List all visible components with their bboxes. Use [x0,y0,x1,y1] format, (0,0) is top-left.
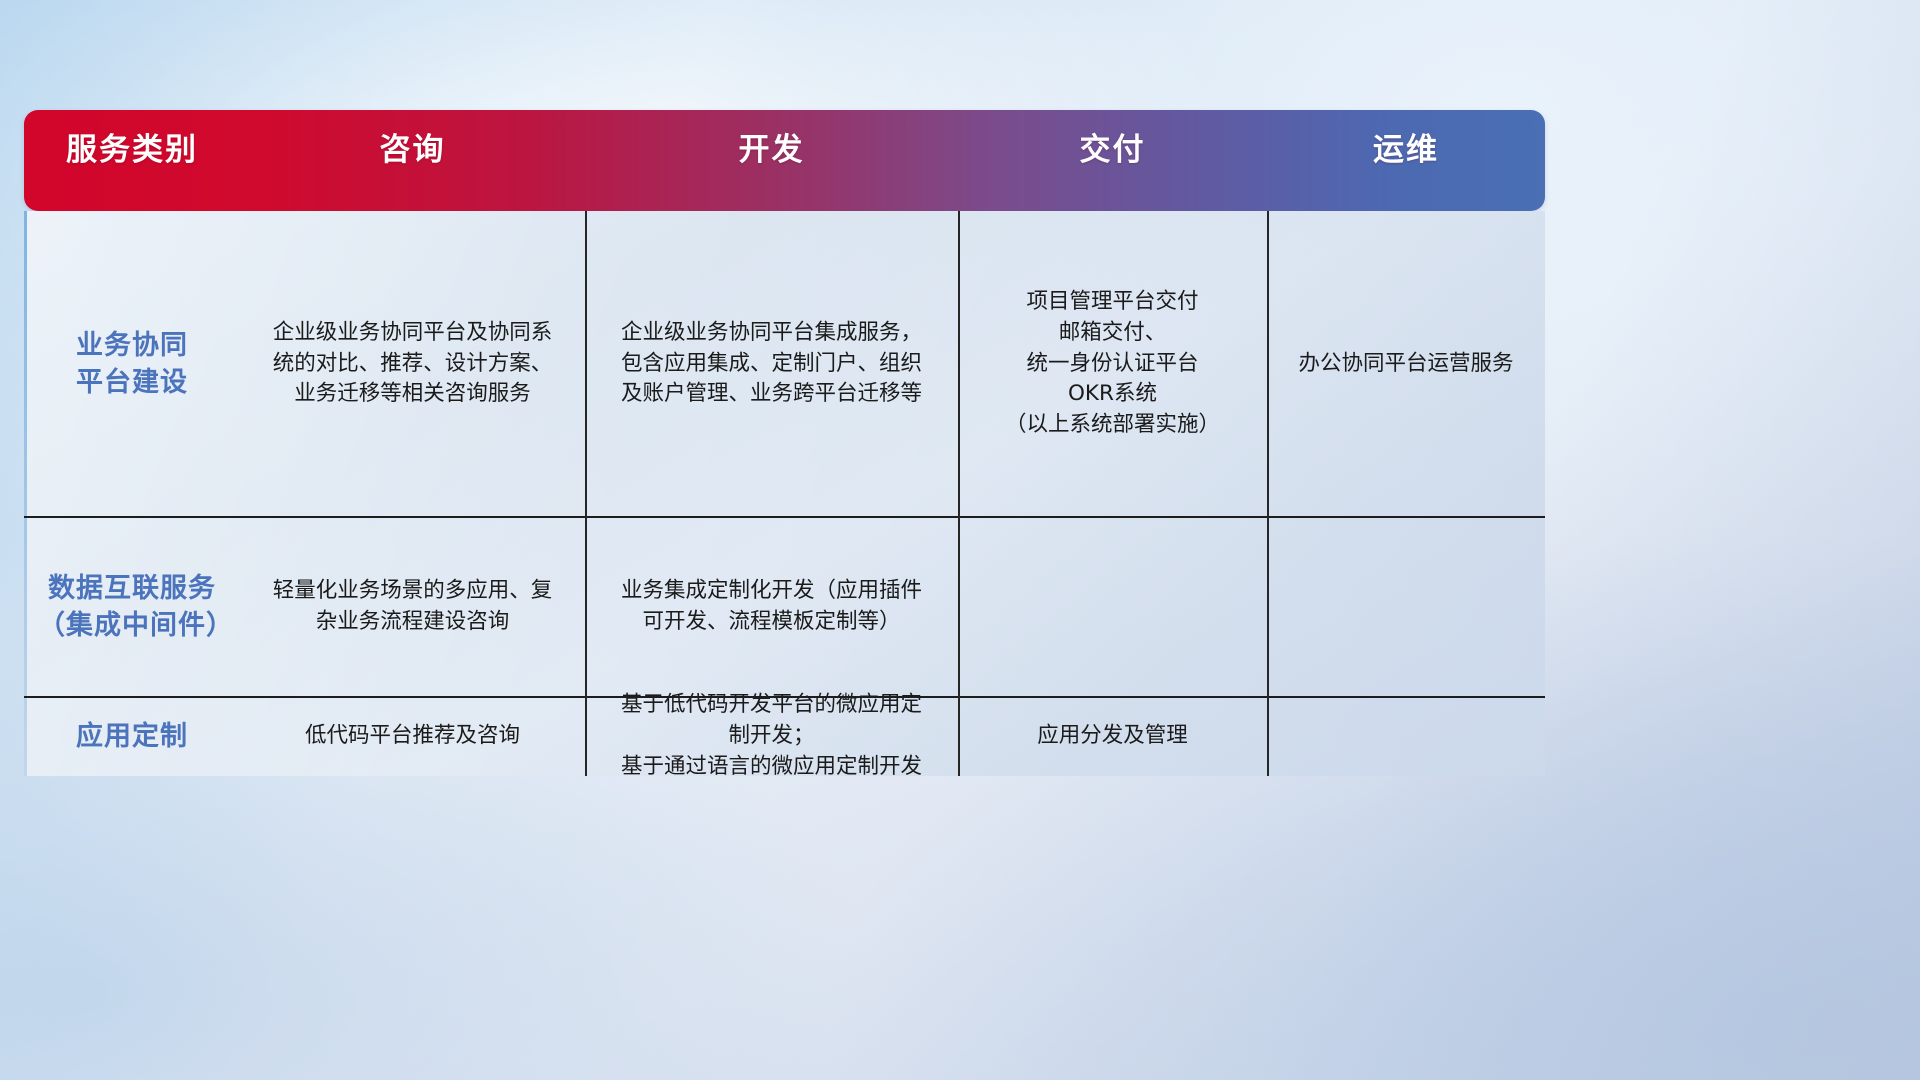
cell-r1-consulting: 企业级业务协同平台及协同系 统的对比、推荐、设计方案、 业务迁移等相关咨询服务 [240,211,585,517]
column-divider-consulting-development [585,211,587,776]
table-body: 业务协同 平台建设 企业级业务协同平台及协同系 统的对比、推荐、设计方案、 业务… [24,211,1545,776]
cell-r2-consulting: 轻量化业务场景的多应用、复 杂业务流程建设咨询 [240,517,585,697]
row-label-app-customization: 应用定制 [24,697,240,776]
cell-r2-delivery [958,517,1267,697]
column-divider-development-delivery [958,211,960,776]
service-matrix-table: 服务类别 咨询 开发 交付 运维 业务协同 平台建设 企业级业务协同平台及协同系… [24,110,1545,776]
row-divider-1 [24,516,1545,518]
cell-r1-development: 企业级业务协同平台集成服务， 包含应用集成、定制门户、组织 及账户管理、业务跨平… [585,211,958,517]
row-divider-2 [24,696,1545,698]
table-row: 业务协同 平台建设 企业级业务协同平台及协同系 统的对比、推荐、设计方案、 业务… [24,211,1545,517]
cell-r2-operations [1267,517,1545,697]
cell-r3-delivery: 应用分发及管理 [958,697,1267,776]
cell-r3-development: 基于低代码开发平台的微应用定 制开发； 基于通过语言的微应用定制开发 [585,697,958,776]
cell-r1-operations: 办公协同平台运营服务 [1267,211,1545,517]
column-header-operations: 运维 [1267,110,1545,211]
row-label-data-interconnect: 数据互联服务 （集成中间件） [24,517,240,697]
column-header-development: 开发 [585,110,958,211]
cell-r1-delivery: 项目管理平台交付 邮箱交付、 统一身份认证平台 OKR系统 （以上系统部署实施） [958,211,1267,517]
table-header-row: 服务类别 咨询 开发 交付 运维 [24,110,1545,211]
column-header-delivery: 交付 [958,110,1267,211]
column-header-consulting: 咨询 [240,110,585,211]
table-row: 应用定制 低代码平台推荐及咨询 基于低代码开发平台的微应用定 制开发； 基于通过… [24,697,1545,776]
column-divider-delivery-operations [1267,211,1269,776]
row-label-business-collaboration: 业务协同 平台建设 [24,211,240,517]
cell-r3-operations [1267,697,1545,776]
table-left-edge-accent [24,211,27,776]
column-header-category: 服务类别 [24,110,240,211]
cell-r3-consulting: 低代码平台推荐及咨询 [240,697,585,776]
cell-r2-development: 业务集成定制化开发（应用插件 可开发、流程模板定制等） [585,517,958,697]
table-row: 数据互联服务 （集成中间件） 轻量化业务场景的多应用、复 杂业务流程建设咨询 业… [24,517,1545,697]
